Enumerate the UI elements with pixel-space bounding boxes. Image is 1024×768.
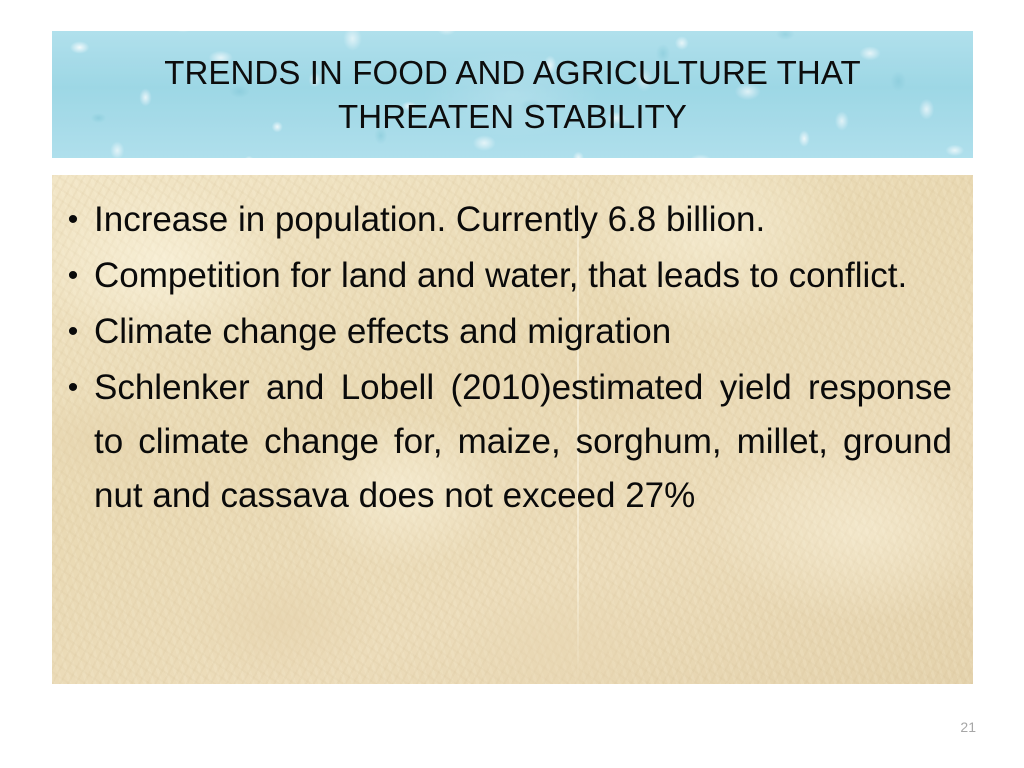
list-item-text: Climate change effects and migration <box>94 305 961 359</box>
title-line-1: TRENDS IN FOOD AND AGRICULTURE THAT <box>72 51 953 95</box>
list-item-text: Increase in population. Currently 6.8 bi… <box>94 193 961 247</box>
title-banner: TRENDS IN FOOD AND AGRICULTURE THAT THRE… <box>52 31 973 158</box>
page-title: TRENDS IN FOOD AND AGRICULTURE THAT THRE… <box>52 51 973 138</box>
page-number: 21 <box>960 719 976 735</box>
bullet-marker-icon: • <box>52 361 94 415</box>
list-item-text: Schlenker and Lobell (2010)estimated yie… <box>94 361 961 523</box>
bullet-marker-icon: • <box>52 193 94 247</box>
list-item: • Increase in population. Currently 6.8 … <box>52 193 961 247</box>
bullet-list: • Increase in population. Currently 6.8 … <box>52 175 973 523</box>
list-item-text: Competition for land and water, that lea… <box>94 249 961 303</box>
bullet-marker-icon: • <box>52 249 94 303</box>
bullet-marker-icon: • <box>52 305 94 359</box>
title-line-2: THREATEN STABILITY <box>72 95 953 139</box>
list-item: • Climate change effects and migration <box>52 305 961 359</box>
list-item: • Competition for land and water, that l… <box>52 249 961 303</box>
list-item: • Schlenker and Lobell (2010)estimated y… <box>52 361 961 523</box>
content-panel: • Increase in population. Currently 6.8 … <box>52 175 973 684</box>
slide-canvas: TRENDS IN FOOD AND AGRICULTURE THAT THRE… <box>0 0 1024 768</box>
